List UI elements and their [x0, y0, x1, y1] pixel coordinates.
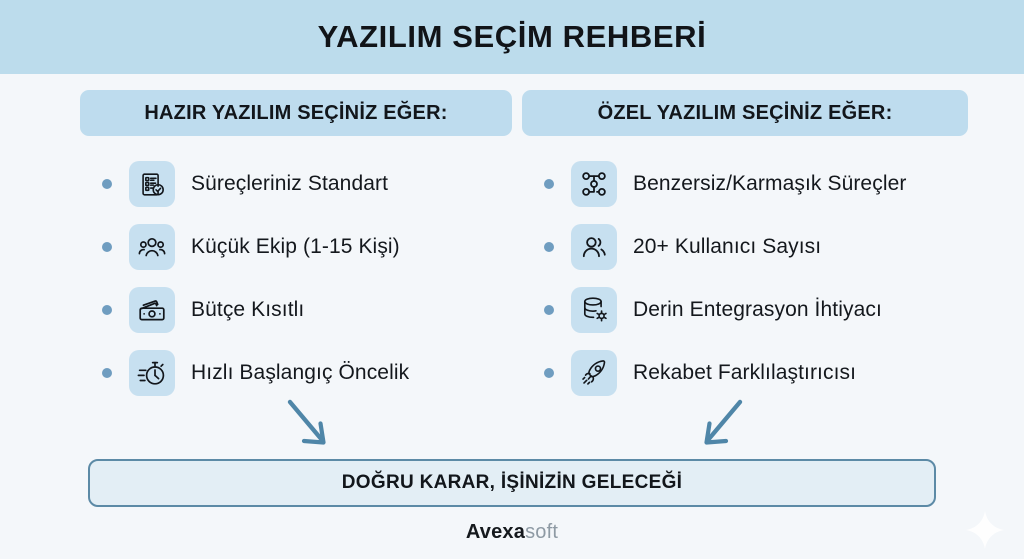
- column-items-ozel: Benzersiz/Karmaşık Süreçler 20+ Kullanıc…: [522, 152, 968, 404]
- column-header-ozel: ÖZEL YAZILIM SEÇİNİZ EĞER:: [522, 90, 968, 136]
- rocket-icon: [571, 350, 617, 396]
- list-item-label: Derin Entegrasyon İhtiyacı: [633, 298, 882, 322]
- arrow-down-left-icon: [692, 396, 748, 459]
- small-team-icon: [129, 224, 175, 270]
- infographic-root: YAZILIM SEÇİM REHBERİ HAZIR YAZILIM SEÇİ…: [0, 0, 1024, 559]
- bullet-dot-icon: [102, 305, 112, 315]
- list-item[interactable]: Bütçe Kısıtlı: [80, 278, 512, 341]
- list-item[interactable]: Rekabet Farklılaştırıcısı: [522, 341, 968, 404]
- columns-container: HAZIR YAZILIM SEÇİNİZ EĞER:: [0, 74, 1024, 404]
- bullet-dot-icon: [102, 368, 112, 378]
- title-banner: YAZILIM SEÇİM REHBERİ: [0, 0, 1024, 74]
- list-item[interactable]: 20+ Kullanıcı Sayısı: [522, 215, 968, 278]
- bullet-dot-icon: [544, 305, 554, 315]
- bullet-dot-icon: [544, 368, 554, 378]
- list-item-label: Bütçe Kısıtlı: [191, 298, 304, 322]
- bullet-dot-icon: [102, 242, 112, 252]
- column-header-label: ÖZEL YAZILIM SEÇİNİZ EĞER:: [598, 102, 893, 125]
- list-item-label: 20+ Kullanıcı Sayısı: [633, 235, 821, 259]
- list-item-label: Rekabet Farklılaştırıcısı: [633, 361, 856, 385]
- stopwatch-speed-icon: [129, 350, 175, 396]
- logo-primary-text: Avexa: [466, 521, 525, 543]
- page-title: YAZILIM SEÇİM REHBERİ: [318, 19, 707, 55]
- list-item[interactable]: Küçük Ekip (1-15 Kişi): [80, 215, 512, 278]
- list-item[interactable]: Hızlı Başlangıç Öncelik: [80, 341, 512, 404]
- logo-secondary-text: soft: [525, 521, 558, 543]
- column-header-label: HAZIR YAZILIM SEÇİNİZ EĞER:: [144, 102, 447, 125]
- list-item[interactable]: Derin Entegrasyon İhtiyacı: [522, 278, 968, 341]
- bullet-dot-icon: [544, 242, 554, 252]
- column-items-hazir: Süreçleriniz Standart: [80, 152, 512, 404]
- brand-logo: Avexasoft: [0, 521, 1024, 544]
- arrow-down-right-icon: [282, 396, 338, 459]
- list-item[interactable]: Süreçleriniz Standart: [80, 152, 512, 215]
- network-nodes-icon: [571, 161, 617, 207]
- list-item-label: Hızlı Başlangıç Öncelik: [191, 361, 409, 385]
- column-hazir-yazilim: HAZIR YAZILIM SEÇİNİZ EĞER:: [80, 74, 512, 404]
- list-item[interactable]: Benzersiz/Karmaşık Süreçler: [522, 152, 968, 215]
- database-gear-icon: [571, 287, 617, 333]
- list-item-label: Süreçleriniz Standart: [191, 172, 388, 196]
- clipboard-check-icon: [129, 161, 175, 207]
- list-item-label: Küçük Ekip (1-15 Kişi): [191, 235, 400, 259]
- bullet-dot-icon: [102, 179, 112, 189]
- list-item-label: Benzersiz/Karmaşık Süreçler: [633, 172, 906, 196]
- bottom-banner[interactable]: DOĞRU KARAR, İŞİNİZİN GELECEĞİ: [88, 459, 936, 507]
- sparkle-icon: [963, 508, 1007, 557]
- users-group-icon: [571, 224, 617, 270]
- column-ozel-yazilim: ÖZEL YAZILIM SEÇİNİZ EĞER:: [522, 74, 968, 404]
- money-cash-icon: [129, 287, 175, 333]
- bottom-banner-label: DOĞRU KARAR, İŞİNİZİN GELECEĞİ: [342, 472, 682, 494]
- column-header-hazir: HAZIR YAZILIM SEÇİNİZ EĞER:: [80, 90, 512, 136]
- bullet-dot-icon: [544, 179, 554, 189]
